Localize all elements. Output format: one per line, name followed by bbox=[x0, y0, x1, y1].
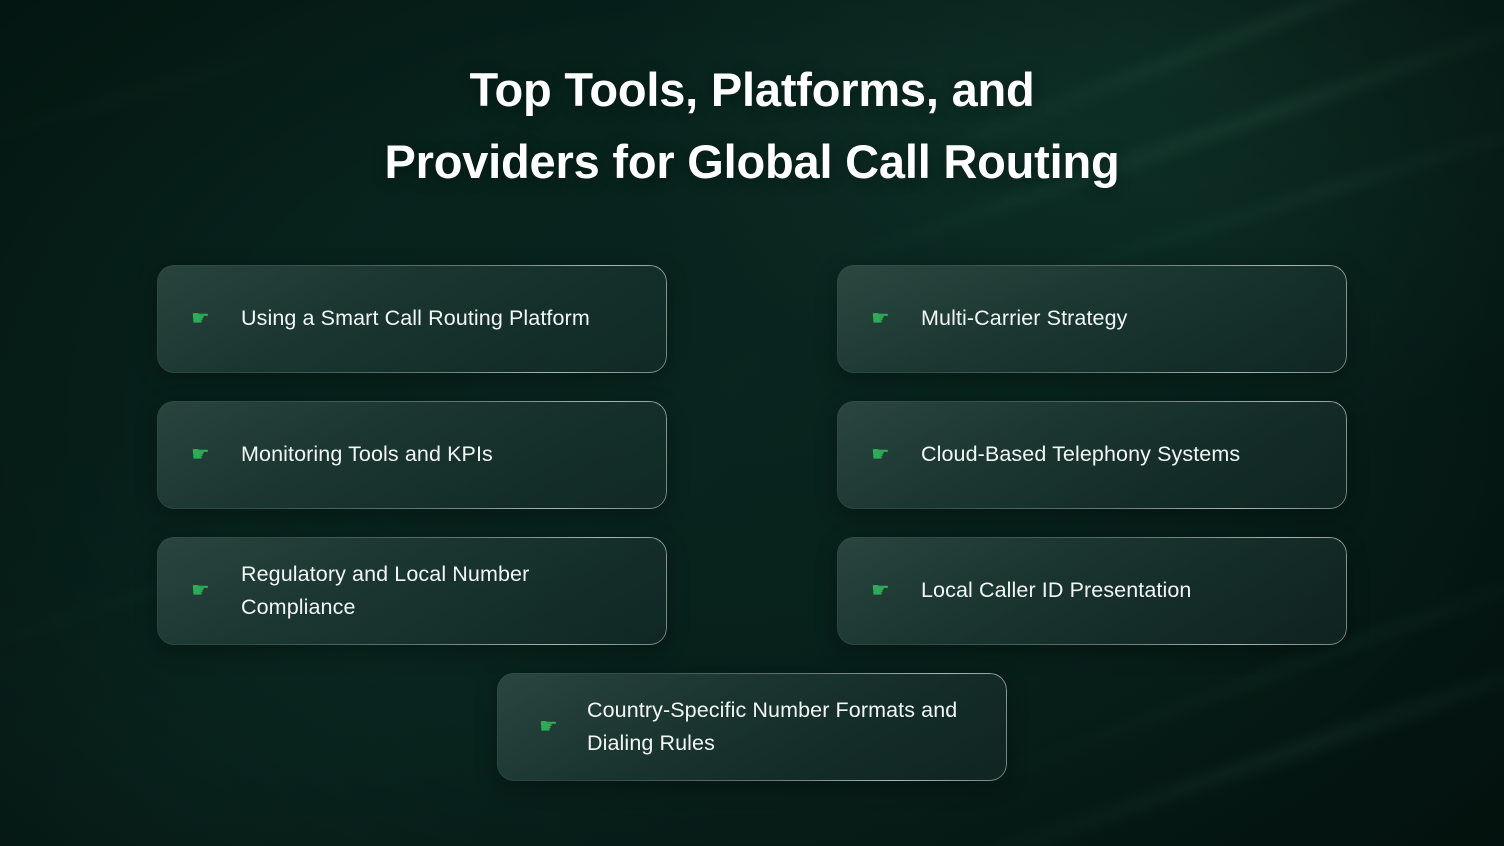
list-item-label: Regulatory and Local Number Compliance bbox=[241, 558, 641, 623]
pointing-hand-icon: ☛ bbox=[871, 580, 897, 601]
list-item-label: Cloud-Based Telephony Systems bbox=[921, 438, 1321, 471]
list-item[interactable]: ☛ Cloud-Based Telephony Systems bbox=[837, 401, 1347, 509]
list-item-label: Multi-Carrier Strategy bbox=[921, 302, 1321, 335]
list-item[interactable]: ☛ Country-Specific Number Formats and Di… bbox=[497, 673, 1007, 781]
pointing-hand-icon: ☛ bbox=[191, 580, 217, 601]
page-title-line-1: Top Tools, Platforms, and bbox=[252, 54, 1252, 126]
list-item[interactable]: ☛ Multi-Carrier Strategy bbox=[837, 265, 1347, 373]
pointing-hand-icon: ☛ bbox=[191, 308, 217, 329]
list-item-label: Country-Specific Number Formats and Dial… bbox=[587, 694, 981, 759]
page-title-line-2: Providers for Global Call Routing bbox=[252, 126, 1252, 198]
list-item-label: Monitoring Tools and KPIs bbox=[241, 438, 641, 471]
slide-content: Top Tools, Platforms, and Providers for … bbox=[0, 0, 1504, 846]
pointing-hand-icon: ☛ bbox=[871, 444, 897, 465]
list-item-label: Local Caller ID Presentation bbox=[921, 574, 1321, 607]
list-item[interactable]: ☛ Local Caller ID Presentation bbox=[837, 537, 1347, 645]
card-bottom-row: ☛ Country-Specific Number Formats and Di… bbox=[157, 673, 1347, 781]
list-item[interactable]: ☛ Regulatory and Local Number Compliance bbox=[157, 537, 667, 645]
pointing-hand-icon: ☛ bbox=[871, 308, 897, 329]
pointing-hand-icon: ☛ bbox=[539, 716, 565, 737]
list-item-label: Using a Smart Call Routing Platform bbox=[241, 302, 641, 335]
page-title: Top Tools, Platforms, and Providers for … bbox=[252, 54, 1252, 199]
pointing-hand-icon: ☛ bbox=[191, 444, 217, 465]
list-item[interactable]: ☛ Using a Smart Call Routing Platform bbox=[157, 265, 667, 373]
card-grid: ☛ Using a Smart Call Routing Platform ☛ … bbox=[157, 265, 1347, 645]
list-item[interactable]: ☛ Monitoring Tools and KPIs bbox=[157, 401, 667, 509]
